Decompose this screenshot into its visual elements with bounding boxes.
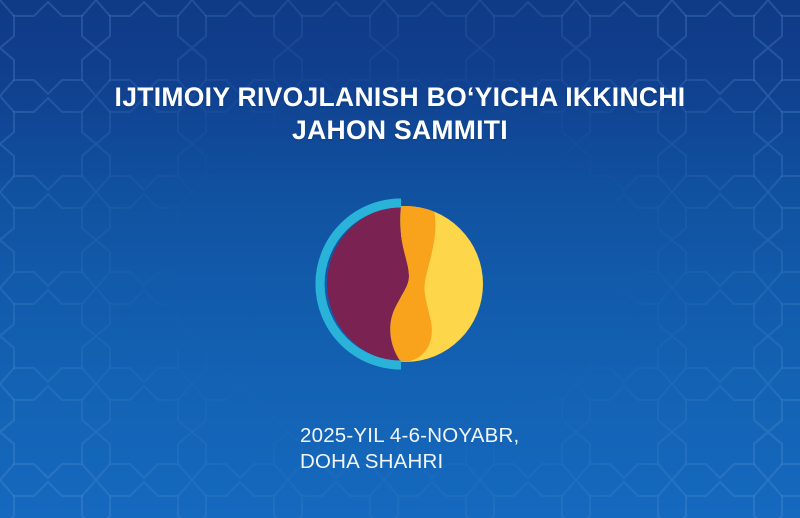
wssd2-summit-emblem [313,196,489,372]
title-line-1: IJTIMOIY RIVOJLANISH BO‘YICHA IKKINCHI [0,81,800,114]
summit-title: IJTIMOIY RIVOJLANISH BO‘YICHA IKKINCHI J… [0,81,800,147]
title-line-2: JAHON SAMMITI [0,114,800,147]
place-line: DOHA SHAHRI [300,449,519,475]
summit-poster: IJTIMOIY RIVOJLANISH BO‘YICHA IKKINCHI J… [0,0,800,518]
date-line: 2025-YIL 4-6-NOYABR, [300,423,519,449]
summit-date-place: 2025-YIL 4-6-NOYABR, DOHA SHAHRI [300,423,519,475]
